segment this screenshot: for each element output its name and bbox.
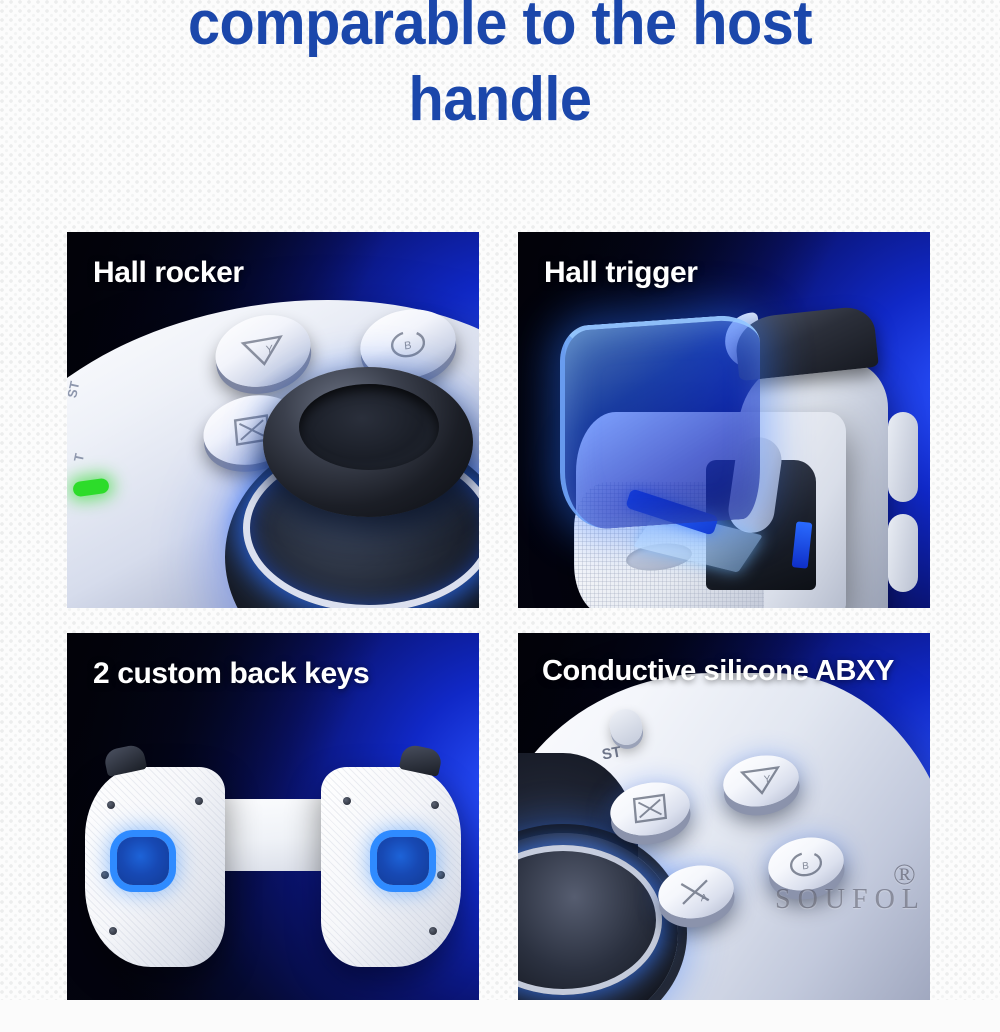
controller-rear-view bbox=[67, 751, 479, 981]
start-button-label: ST bbox=[601, 743, 623, 763]
side-button-upper[interactable] bbox=[888, 412, 918, 502]
thumbstick-dish bbox=[299, 384, 439, 470]
svg-text:B: B bbox=[404, 340, 412, 353]
svg-text:A: A bbox=[700, 892, 708, 904]
panel-label-hall-trigger: Hall trigger bbox=[544, 256, 698, 290]
panel-label-abxy: Conductive silicone ABXY bbox=[542, 655, 894, 688]
screw-dot bbox=[101, 871, 109, 879]
panel-label-hall-rocker: Hall rocker bbox=[93, 256, 244, 290]
feature-panel-abxy[interactable]: ST Y A B Conductive silicone ABXY bbox=[518, 633, 930, 1000]
page-headline: comparable to the host handle bbox=[35, 0, 965, 137]
screw-dot bbox=[437, 871, 445, 879]
svg-text:Y: Y bbox=[763, 774, 771, 786]
translucent-trigger[interactable] bbox=[560, 313, 760, 532]
svg-text:Y: Y bbox=[265, 343, 274, 356]
feature-panel-grid: ST T Y B A Hall rocker bbox=[67, 232, 930, 1032]
side-button-lower[interactable] bbox=[888, 514, 918, 592]
feature-panel-back-keys[interactable]: 2 custom back keys bbox=[67, 633, 479, 1000]
screw-dot bbox=[109, 927, 117, 935]
screw-dot bbox=[343, 797, 351, 805]
panel-label-back-keys: 2 custom back keys bbox=[93, 657, 369, 691]
screw-dot bbox=[429, 927, 437, 935]
screw-dot bbox=[107, 801, 115, 809]
feature-panel-hall-trigger[interactable]: Hall trigger bbox=[518, 232, 930, 608]
back-paddle-left[interactable] bbox=[117, 837, 169, 885]
svg-text:B: B bbox=[802, 861, 810, 873]
back-paddle-right[interactable] bbox=[377, 837, 429, 885]
screw-dot bbox=[431, 801, 439, 809]
feature-panel-hall-rocker[interactable]: ST T Y B A Hall rocker bbox=[67, 232, 479, 608]
screw-dot bbox=[195, 797, 203, 805]
